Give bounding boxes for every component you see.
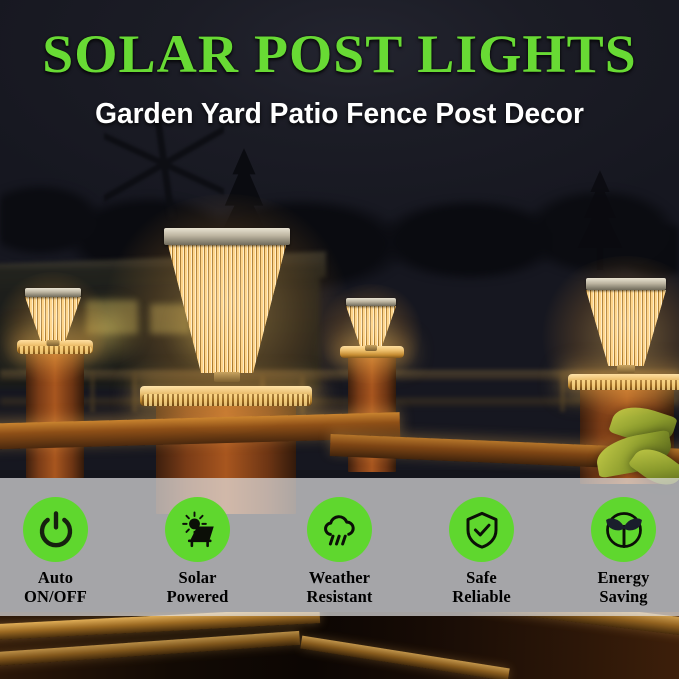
leaf-sprout-icon xyxy=(591,497,656,562)
feature-label-line1: Weather xyxy=(309,568,370,587)
solar-post-light-main xyxy=(168,228,286,388)
fence-picket xyxy=(90,372,95,412)
feature-label-line1: Solar xyxy=(178,568,216,587)
feature-solar-powered: Solar Powered xyxy=(130,478,265,607)
solar-post-light-right xyxy=(586,278,666,378)
product-feature-banner: SOLAR POST LIGHTS Garden Yard Patio Fenc… xyxy=(0,0,679,679)
feature-safe-reliable: Safe Reliable xyxy=(414,478,549,607)
feature-label: Solar Powered xyxy=(167,569,229,607)
feature-weather-resistant: Weather Resistant xyxy=(272,478,407,607)
solar-panel-cap xyxy=(346,298,396,306)
fence-picket xyxy=(560,372,565,412)
page-subtitle: Garden Yard Patio Fence Post Decor xyxy=(10,100,669,129)
feature-label-line1: Safe xyxy=(466,568,497,587)
post-cap-ribs xyxy=(18,346,92,354)
feature-label-line2: Saving xyxy=(599,587,647,606)
lamp-shade xyxy=(586,290,666,366)
feature-energy-saving: Energy Saving xyxy=(556,478,679,607)
background-railing xyxy=(0,398,679,406)
lamp-neck xyxy=(214,372,240,382)
feature-label-line1: Energy xyxy=(598,568,650,587)
feature-label: Energy Saving xyxy=(598,569,650,607)
lamp-neck xyxy=(365,345,377,351)
power-icon xyxy=(23,497,88,562)
feature-label: Weather Resistant xyxy=(307,569,373,607)
feature-label-line2: ON/OFF xyxy=(24,587,87,606)
post-cap-ribs xyxy=(142,394,310,406)
feature-label-line2: Powered xyxy=(167,587,229,606)
solar-panel-cap xyxy=(586,278,666,290)
feature-label: Auto ON/OFF xyxy=(24,569,87,607)
lamp-neck xyxy=(617,365,635,373)
feature-auto-on-off: Auto ON/OFF xyxy=(0,478,123,607)
solar-panel-icon xyxy=(165,497,230,562)
feature-label-line1: Auto xyxy=(38,568,73,587)
lamp-neck xyxy=(47,340,60,346)
rain-cloud-icon xyxy=(307,497,372,562)
solar-panel-cap xyxy=(25,288,81,297)
page-title: SOLAR POST LIGHTS xyxy=(0,27,679,81)
feature-label-line2: Resistant xyxy=(307,587,373,606)
post-cap-ribs xyxy=(570,380,679,390)
foreground-deck-photo xyxy=(0,612,679,679)
solar-panel-cap xyxy=(164,228,290,245)
feature-highlights-band: Auto ON/OFF xyxy=(0,478,679,616)
feature-label: Safe Reliable xyxy=(452,569,511,607)
lamp-shade xyxy=(25,297,81,341)
feature-label-line2: Reliable xyxy=(452,587,511,606)
deck-plank xyxy=(300,636,509,679)
fence-picket xyxy=(132,372,137,412)
lamp-shade xyxy=(346,306,396,346)
shield-check-icon xyxy=(449,497,514,562)
lamp-shade xyxy=(168,245,286,373)
fence-post xyxy=(26,346,84,478)
